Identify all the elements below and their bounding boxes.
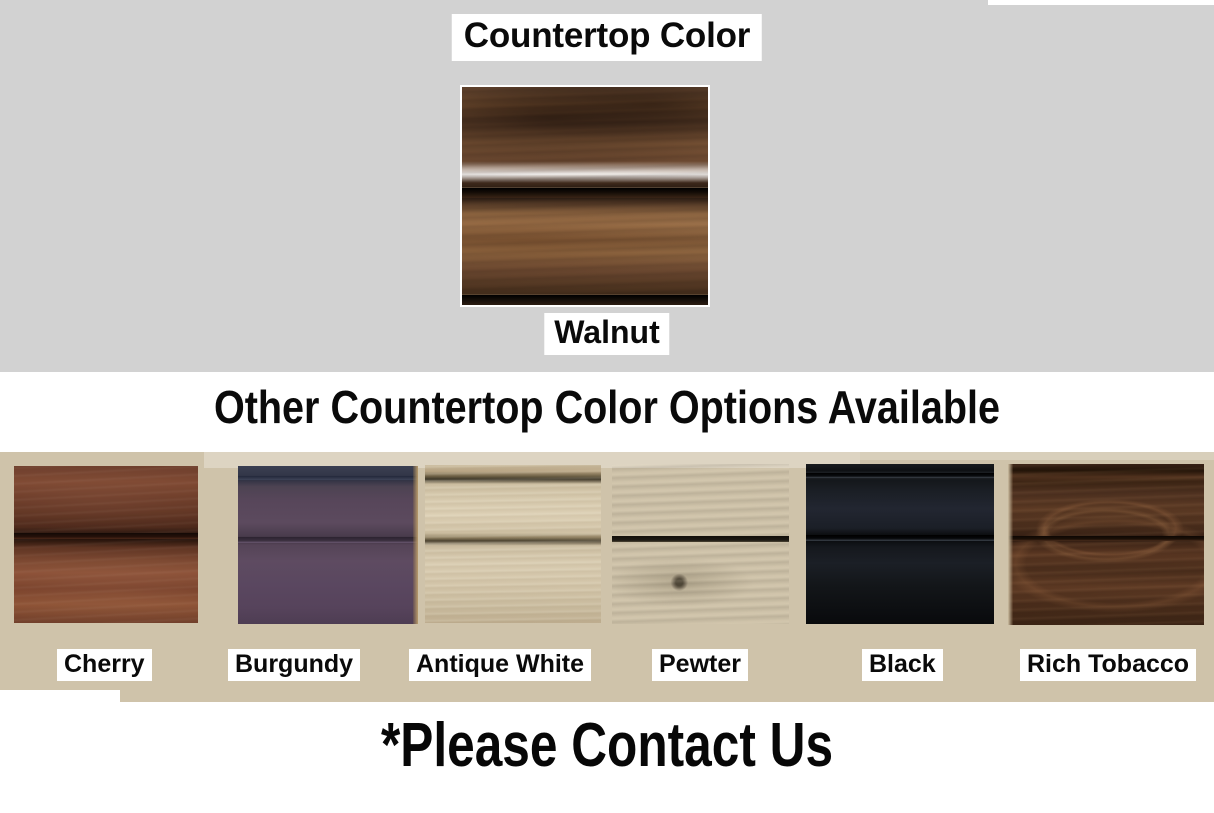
wood-swatch-icon	[462, 87, 708, 305]
contact-note-text: *Please Contact Us	[381, 710, 833, 781]
option-swatch-rich-tobacco[interactable]	[1008, 464, 1204, 625]
countertop-color-panel: Countertop Color Walnut	[0, 0, 1214, 372]
contact-note: *Please Contact Us	[324, 710, 889, 781]
footer-band: *Please Contact Us	[0, 702, 1214, 813]
wood-top-edge-line	[806, 473, 994, 478]
wood-groove-line	[462, 188, 708, 198]
option-label-cherry: Cherry	[57, 649, 152, 681]
option-swatch-antique-white[interactable]	[425, 465, 601, 623]
option-label-pewter: Pewter	[652, 649, 748, 681]
option-label-black: Black	[862, 649, 943, 681]
wood-base-layer	[238, 466, 418, 624]
options-subtitle-text: Other Countertop Color Options Available	[214, 380, 1000, 434]
wood-side-edge	[413, 466, 418, 624]
page-title: Countertop Color	[452, 14, 762, 61]
main-countertop-swatch[interactable]	[460, 85, 710, 307]
band-highlight-strip-right	[860, 452, 1214, 460]
option-label-rich-tobacco: Rich Tobacco	[1020, 649, 1196, 681]
wood-grain-layer	[612, 464, 789, 624]
wood-groove-line	[14, 533, 198, 539]
wood-swatch-icon	[612, 464, 789, 624]
wood-swatch-icon	[806, 464, 994, 624]
wood-side-edge	[1008, 464, 1013, 625]
option-swatch-pewter[interactable]	[612, 464, 789, 624]
wood-groove-line	[1008, 536, 1204, 541]
wood-grain-layer	[425, 465, 601, 623]
wood-grain-layer	[1008, 464, 1204, 625]
top-edge-strip	[988, 0, 1214, 5]
option-swatch-burgundy[interactable]	[238, 466, 418, 624]
wood-groove-line	[806, 535, 994, 541]
wood-swatch-icon	[238, 466, 418, 624]
wood-swatch-icon	[425, 465, 601, 623]
color-options-band: Cherry Burgundy Antique White Pewter Bla…	[0, 452, 1214, 702]
wood-swatch-icon	[1008, 464, 1204, 625]
option-label-antique-white: Antique White	[409, 649, 591, 681]
option-label-burgundy: Burgundy	[228, 649, 360, 681]
option-swatch-cherry[interactable]	[14, 466, 198, 623]
wood-groove-line-bottom	[462, 295, 708, 305]
wood-top-edge-line	[238, 476, 418, 480]
main-swatch-label: Walnut	[544, 313, 669, 355]
wood-groove-line	[238, 537, 418, 543]
options-subtitle: Other Countertop Color Options Available	[150, 380, 1064, 434]
wood-groove-line	[612, 536, 789, 542]
wood-base-layer	[806, 464, 994, 624]
band-bottom-left-notch	[0, 690, 120, 702]
wood-grain-layer	[14, 466, 198, 623]
option-swatch-black[interactable]	[806, 464, 994, 624]
wood-swatch-icon	[14, 466, 198, 623]
subtitle-band: Other Countertop Color Options Available	[0, 372, 1214, 452]
